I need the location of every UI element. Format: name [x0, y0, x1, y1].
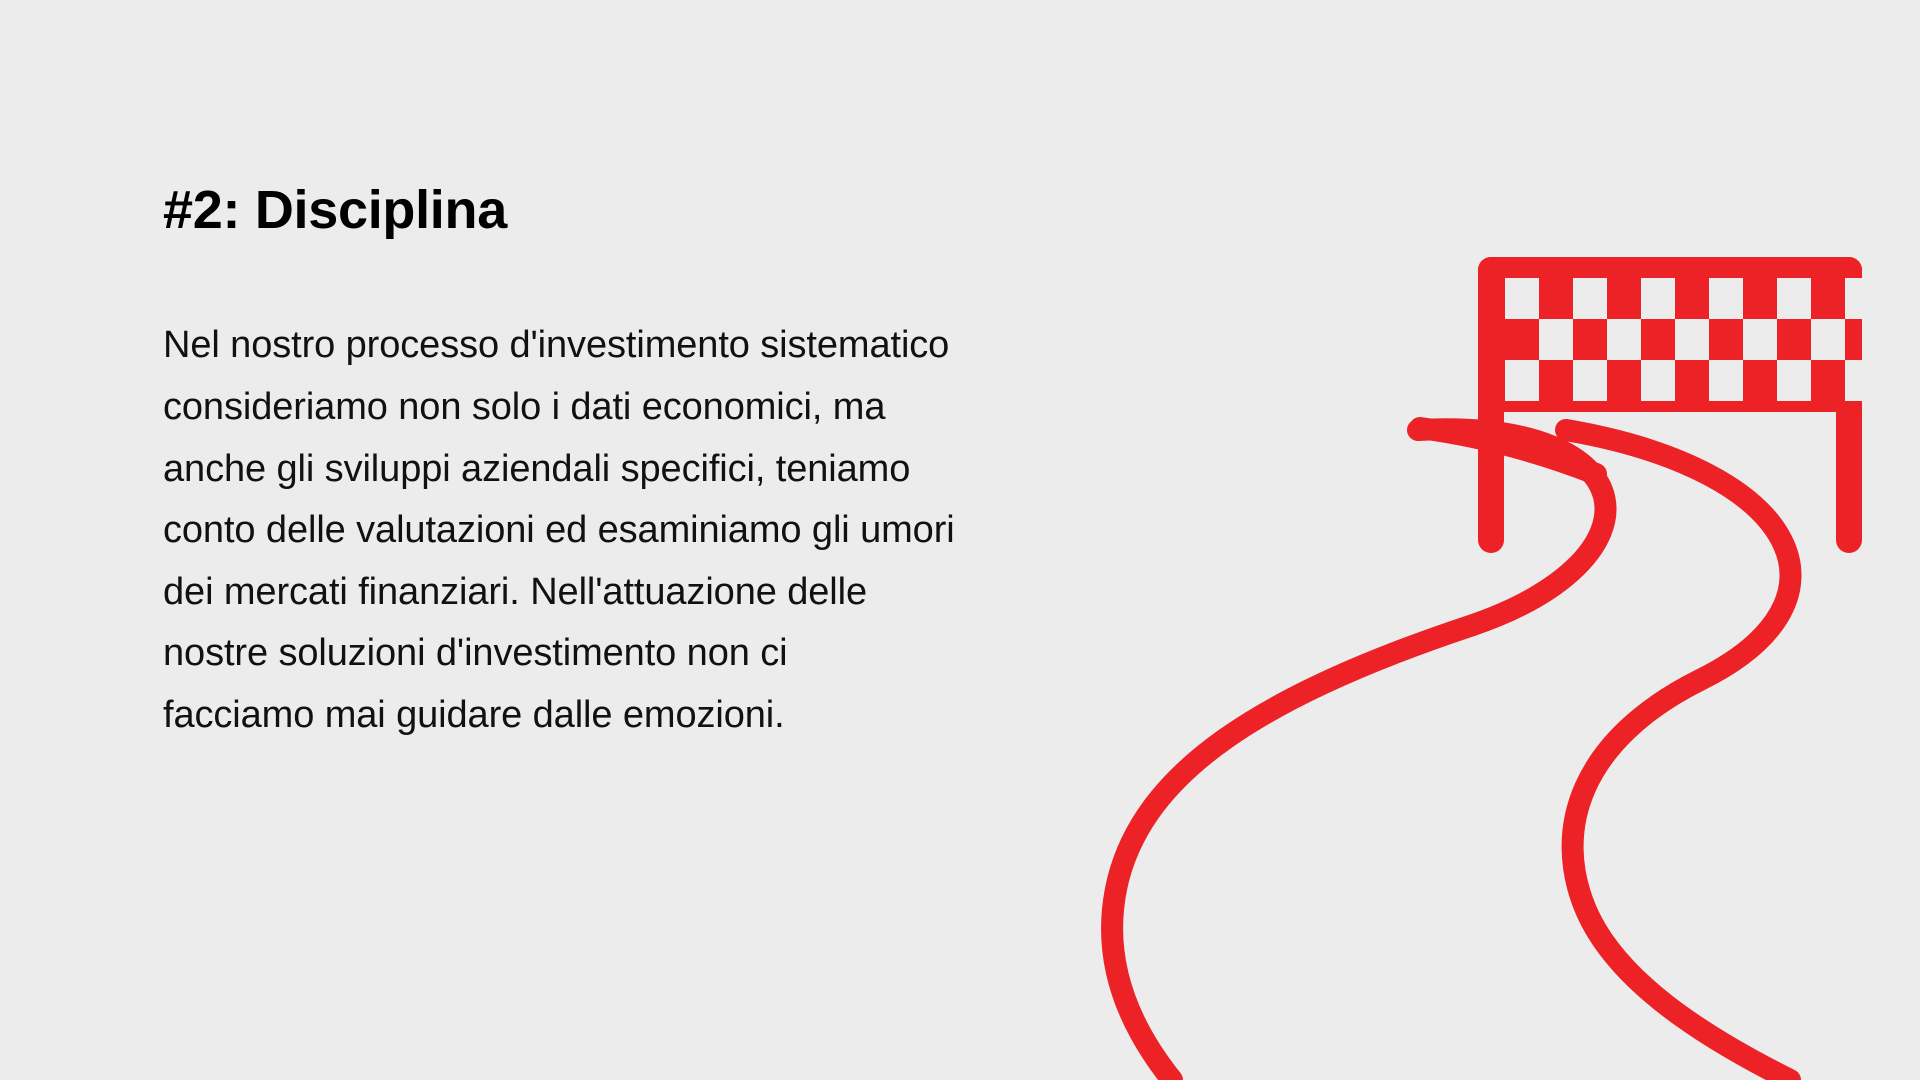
checker-cell	[1777, 278, 1811, 319]
body-line: facciamo mai guidare dalle emozioni.	[163, 685, 1203, 747]
checker-cell	[1845, 360, 1862, 401]
checkered-banner	[1478, 257, 1862, 412]
page-title: #2: Disciplina	[163, 180, 1223, 240]
checker-cell	[1641, 360, 1675, 401]
checker-cell	[1811, 319, 1845, 360]
checker-cell	[1641, 278, 1675, 319]
checker-row-3	[1505, 360, 1862, 401]
banner-body	[1478, 257, 1862, 412]
text-content-block: #2: Disciplina Nel nostro processo d'inv…	[163, 180, 1223, 746]
checker-cell	[1505, 360, 1539, 401]
body-line: anche gli sviluppi aziendali specifici, …	[163, 439, 1203, 501]
checker-cell	[1505, 278, 1539, 319]
body-line: nostre soluzioni d'investimento non ci	[163, 623, 1203, 685]
slide-canvas: #2: Disciplina Nel nostro processo d'inv…	[0, 0, 1920, 1080]
finish-line-posts-group	[1491, 270, 1849, 540]
checker-cell	[1709, 360, 1743, 401]
body-paragraph: Nel nostro processo d'investimento siste…	[163, 240, 1203, 746]
checker-row-1	[1505, 278, 1862, 319]
road-stub-left	[1420, 428, 1596, 474]
road-curve-right	[1566, 430, 1790, 1080]
checker-cell	[1743, 319, 1777, 360]
checker-cell	[1777, 360, 1811, 401]
body-line: consideriamo non solo i dati economici, …	[163, 377, 1203, 439]
checker-cell	[1539, 319, 1573, 360]
body-line: dei mercati finanziari. Nell'attuazione …	[163, 562, 1203, 624]
body-line: Nel nostro processo d'investimento siste…	[163, 315, 1203, 377]
checker-cell	[1573, 278, 1607, 319]
checker-cell	[1845, 278, 1862, 319]
checker-cell	[1573, 360, 1607, 401]
checker-cell	[1607, 319, 1641, 360]
checker-cell	[1709, 278, 1743, 319]
checker-cell	[1675, 319, 1709, 360]
checker-row-2	[1539, 319, 1845, 360]
body-line: conto delle valutazioni ed esaminiamo gl…	[163, 500, 1203, 562]
